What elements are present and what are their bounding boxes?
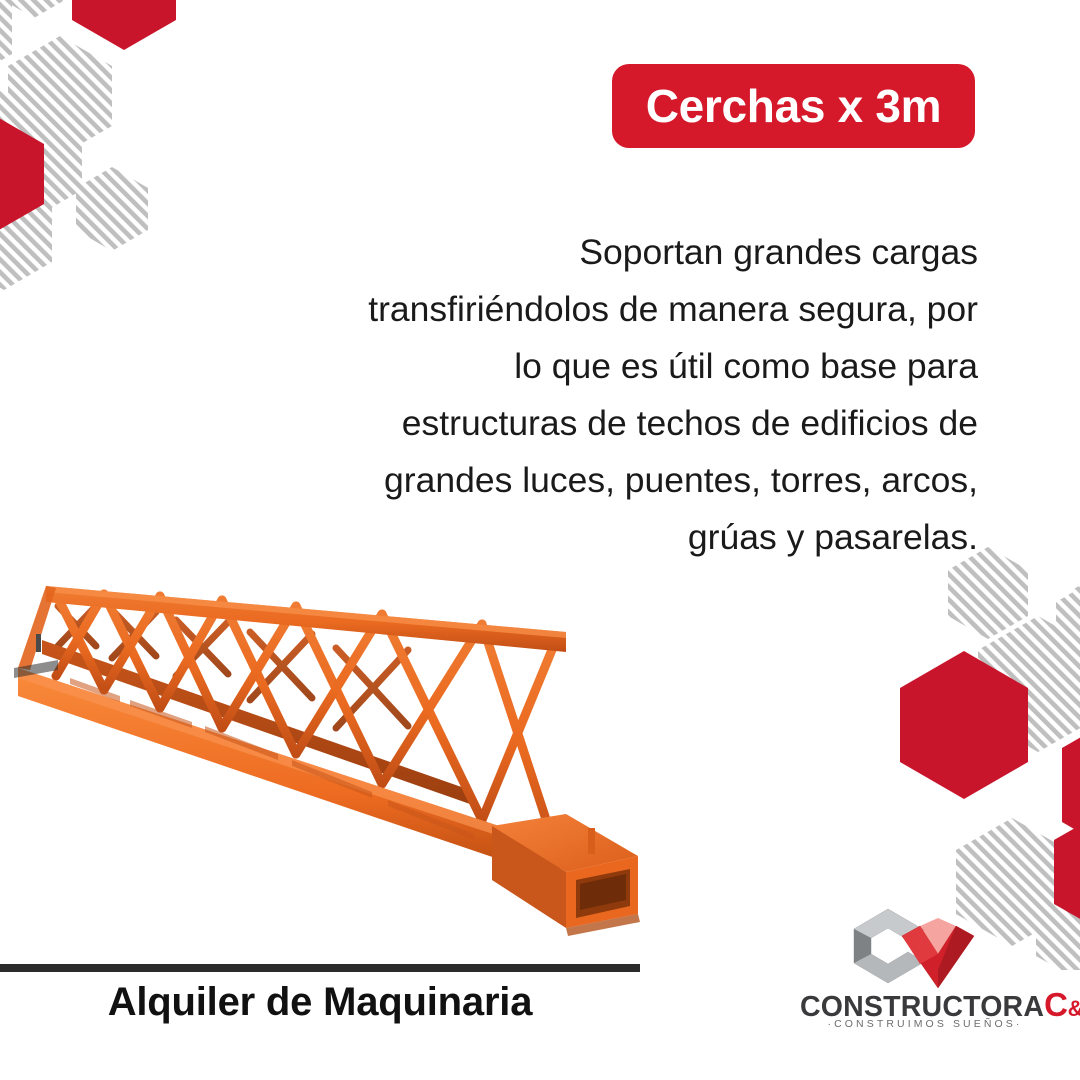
product-image-truss (0, 528, 680, 958)
logo-name-ampersand: & (1068, 996, 1080, 1021)
title-badge-label: Cerchas x 3m (646, 83, 942, 129)
company-logo: CONSTRUCTORAC&V ·CONSTRUIMOS SUEÑOS· (800, 896, 1050, 1036)
truss-far-end (14, 586, 58, 678)
logo-tagline: ·CONSTRUIMOS SUEÑOS· (800, 1018, 1050, 1030)
logo-isotype-cv-icon (846, 896, 996, 988)
logo-wordmark: CONSTRUCTORAC&V (800, 988, 1050, 1022)
poster-canvas: Cerchas x 3m Soportan grandes cargas tra… (0, 0, 1080, 1080)
description-text: Soportan grandes cargas transfiriéndolos… (342, 224, 978, 566)
title-badge: Cerchas x 3m (612, 64, 975, 148)
footer-divider (0, 964, 640, 972)
decor-hexagons-top-left (0, 0, 270, 338)
truss-end-cap (492, 814, 640, 936)
footer-caption: Alquiler de Maquinaria (0, 980, 640, 1025)
